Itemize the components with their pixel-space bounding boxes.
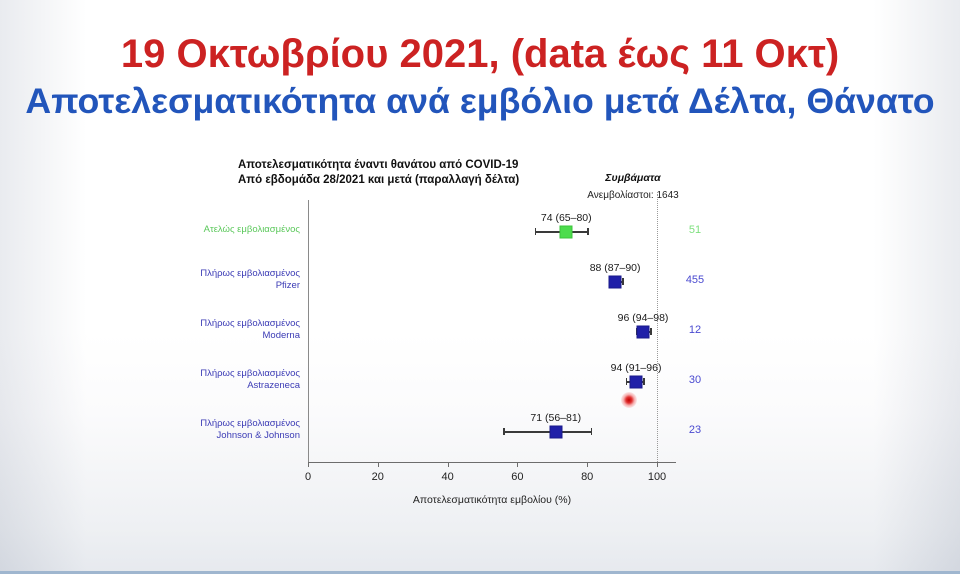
point-estimate-marker — [609, 275, 622, 288]
x-tick-80 — [587, 462, 588, 467]
forest-row: Πλήρως εμβολιασμένοςAstrazeneca94 (91–96… — [180, 362, 750, 396]
forest-plot: Αποτελεσματικότητα έναντι θανάτου από CO… — [180, 150, 750, 510]
forest-row: Πλήρως εμβολιασμένοςJohnson & Johnson71 … — [180, 412, 750, 446]
ci-cap-high — [643, 378, 645, 385]
events-count: 23 — [665, 424, 725, 436]
ci-cap-high — [587, 228, 589, 235]
events-count: 30 — [665, 374, 725, 386]
confidence-interval-line — [503, 431, 590, 433]
row-label-status: Πλήρως εμβολιασμένος — [200, 318, 300, 329]
estimate-label: 71 (56–81) — [530, 412, 581, 424]
slide-title-subject: Αποτελεσματικότητα ανά εμβόλιο μετά Δέλτ… — [0, 78, 960, 126]
row-label-brand: Pfizer — [180, 280, 300, 292]
forest-row: Πλήρως εμβολιασμένοςPfizer88 (87–90)455 — [180, 262, 750, 296]
laser-pointer-dot — [621, 392, 637, 408]
x-tick-label-80: 80 — [581, 471, 593, 483]
forest-row: Πλήρως εμβολιασμένοςModerna96 (94–98)12 — [180, 312, 750, 346]
row-label-status: Ατελώς εμβολιασμένος — [204, 224, 300, 235]
events-column-header: Συμβάματα — [578, 172, 688, 184]
x-tick-label-40: 40 — [441, 471, 453, 483]
row-label-partially-vaccinated: Ατελώς εμβολιασμένος — [180, 224, 300, 236]
ci-cap-high — [591, 428, 593, 435]
row-label-astrazeneca: Πλήρως εμβολιασμένοςAstrazeneca — [180, 368, 300, 391]
chart-subtitle: Από εβδομάδα 28/2021 και μετά (παραλλαγή… — [238, 173, 519, 188]
x-tick-0 — [308, 462, 309, 467]
ci-cap-high — [622, 278, 624, 285]
row-label-status: Πλήρως εμβολιασμένος — [200, 268, 300, 279]
row-label-status: Πλήρως εμβολιασμένος — [200, 368, 300, 379]
x-tick-label-0: 0 — [305, 471, 311, 483]
ci-cap-low — [626, 378, 628, 385]
ci-cap-high — [650, 328, 652, 335]
ci-cap-low — [535, 228, 537, 235]
chart-title-block: Αποτελεσματικότητα έναντι θανάτου από CO… — [238, 158, 519, 188]
x-tick-label-100: 100 — [648, 471, 666, 483]
ci-cap-low — [503, 428, 505, 435]
x-axis-title: Αποτελεσματικότητα εμβολίου (%) — [308, 494, 676, 506]
x-tick-20 — [378, 462, 379, 467]
row-label-pfizer: Πλήρως εμβολιασμένοςPfizer — [180, 268, 300, 291]
events-count: 455 — [665, 274, 725, 286]
x-axis-line — [308, 462, 676, 463]
x-tick-100 — [657, 462, 658, 467]
estimate-label: 94 (91–96) — [611, 362, 662, 374]
slide-title-date: 19 Οκτωβρίου 2021, (data έως 11 Οκτ) — [0, 28, 960, 80]
point-estimate-marker — [560, 225, 573, 238]
forest-row: Ατελώς εμβολιασμένος74 (65–80)51 — [180, 212, 750, 246]
row-label-brand: Johnson & Johnson — [180, 430, 300, 442]
row-label-brand: Moderna — [180, 330, 300, 342]
x-tick-40 — [448, 462, 449, 467]
point-estimate-marker — [630, 375, 643, 388]
row-label-status: Πλήρως εμβολιασμένος — [200, 418, 300, 429]
x-tick-60 — [517, 462, 518, 467]
row-label-brand: Astrazeneca — [180, 380, 300, 392]
chart-title: Αποτελεσματικότητα έναντι θανάτου από CO… — [238, 158, 519, 173]
events-count: 12 — [665, 324, 725, 336]
estimate-label: 88 (87–90) — [590, 262, 641, 274]
x-tick-label-20: 20 — [372, 471, 384, 483]
estimate-label: 96 (94–98) — [618, 312, 669, 324]
row-label-johnson-johnson: Πλήρως εμβολιασμένοςJohnson & Johnson — [180, 418, 300, 441]
row-label-moderna: Πλήρως εμβολιασμένοςModerna — [180, 318, 300, 341]
estimate-label: 74 (65–80) — [541, 212, 592, 224]
x-tick-label-60: 60 — [511, 471, 523, 483]
unvaccinated-events-note: Ανεμβολίαστοι: 1643 — [538, 190, 728, 201]
slide-title-block: 19 Οκτωβρίου 2021, (data έως 11 Οκτ) Απο… — [0, 28, 960, 126]
point-estimate-marker — [549, 425, 562, 438]
point-estimate-marker — [637, 325, 650, 338]
events-count: 51 — [665, 224, 725, 236]
